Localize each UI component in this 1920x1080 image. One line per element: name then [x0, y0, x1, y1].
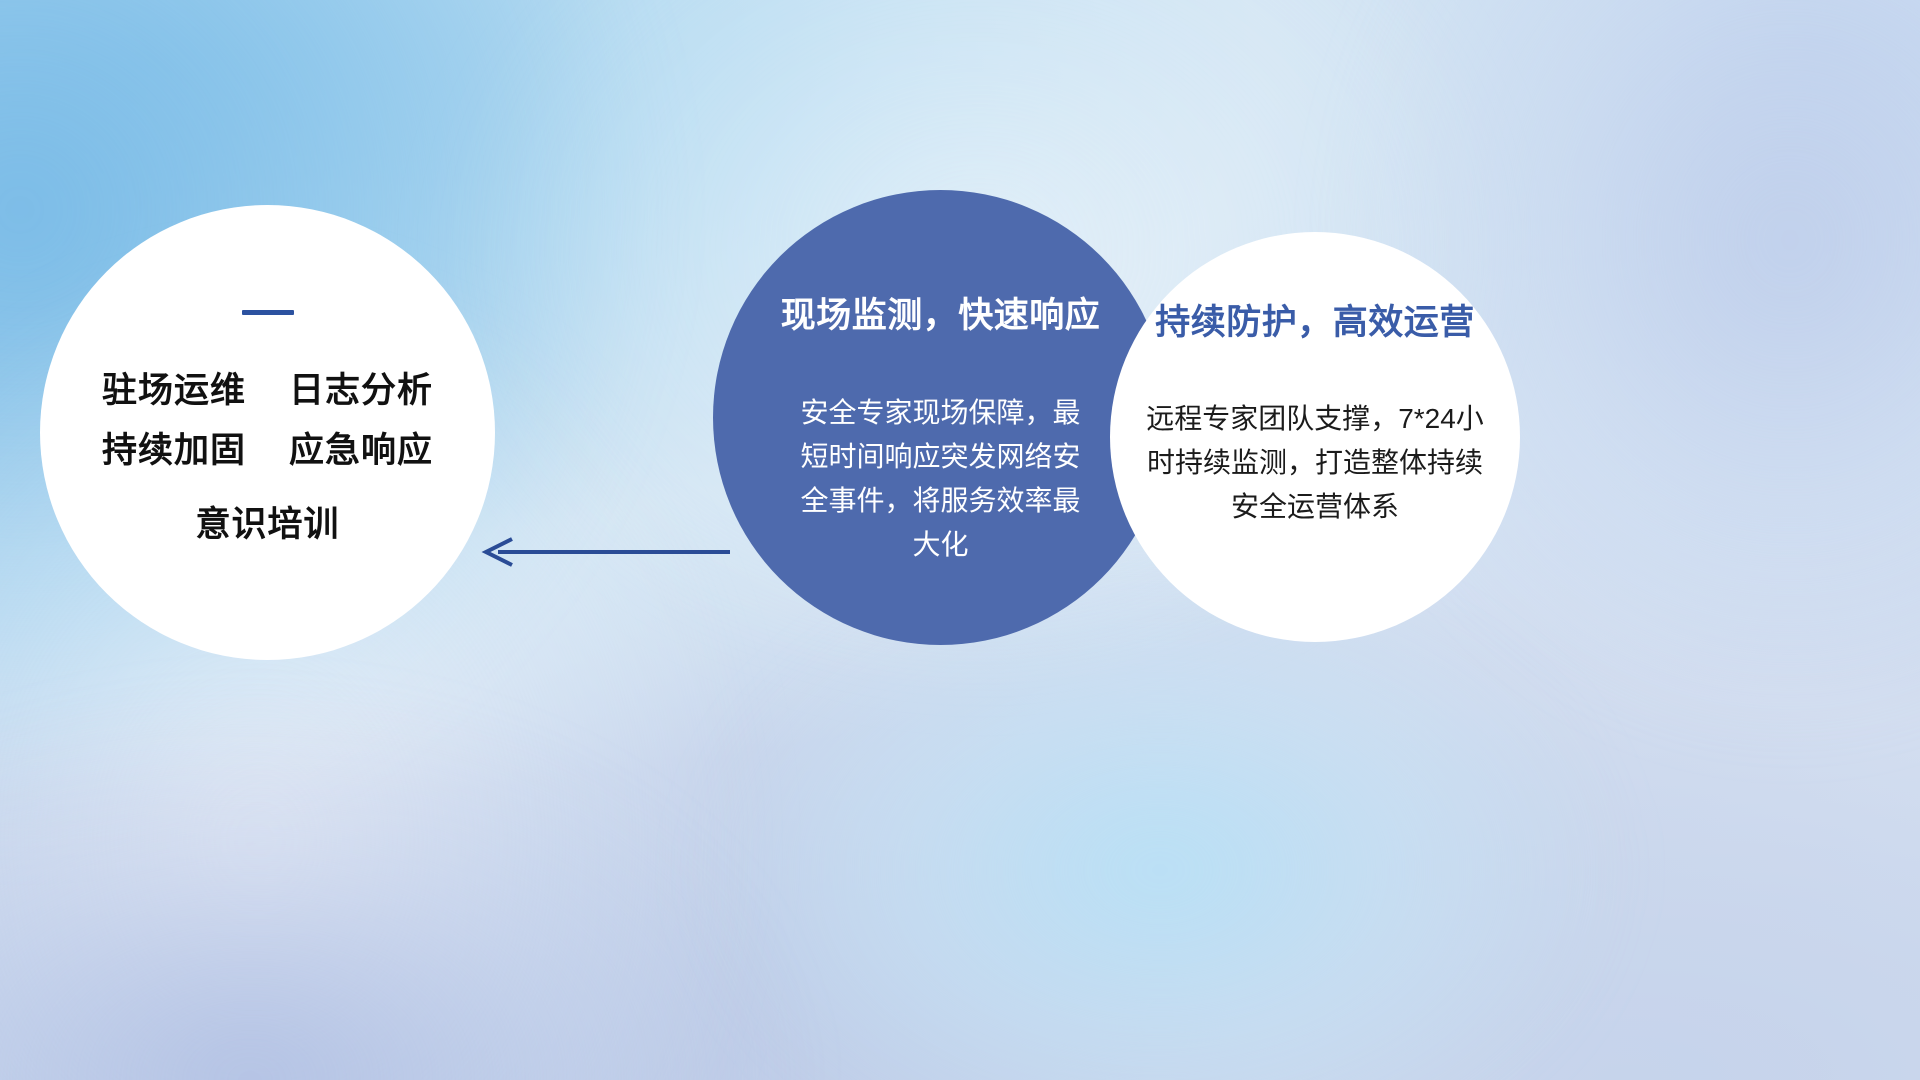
capability-line-1: 驻场运维 日志分析 — [102, 361, 433, 421]
onsite-monitoring-circle[interactable]: 现场监测，快速响应 安全专家现场保障，最短时间响应突发网络安全事件，将服务效率最… — [713, 190, 1168, 645]
arrow-left-icon — [480, 530, 730, 574]
divider-dash — [242, 310, 294, 315]
onsite-monitoring-body: 安全专家现场保障，最短时间响应突发网络安全事件，将服务效率最大化 — [791, 391, 1091, 567]
capabilities-circle[interactable]: 驻场运维 日志分析 持续加固 应急响应 意识培训 — [40, 205, 495, 660]
flow-arrow-left — [480, 530, 730, 574]
continuous-protection-body: 远程专家团队支撑，7*24小时持续监测，打造整体持续安全运营体系 — [1135, 397, 1495, 529]
capability-line-2: 持续加固 应急响应 — [102, 421, 433, 481]
capability-line-3: 意识培训 — [195, 495, 339, 555]
continuous-protection-title: 持续防护，高效运营 — [1155, 294, 1475, 345]
onsite-monitoring-title: 现场监测，快速响应 — [781, 287, 1101, 338]
continuous-protection-circle[interactable]: 持续防护，高效运营 远程专家团队支撑，7*24小时持续监测，打造整体持续安全运营… — [1110, 232, 1520, 642]
